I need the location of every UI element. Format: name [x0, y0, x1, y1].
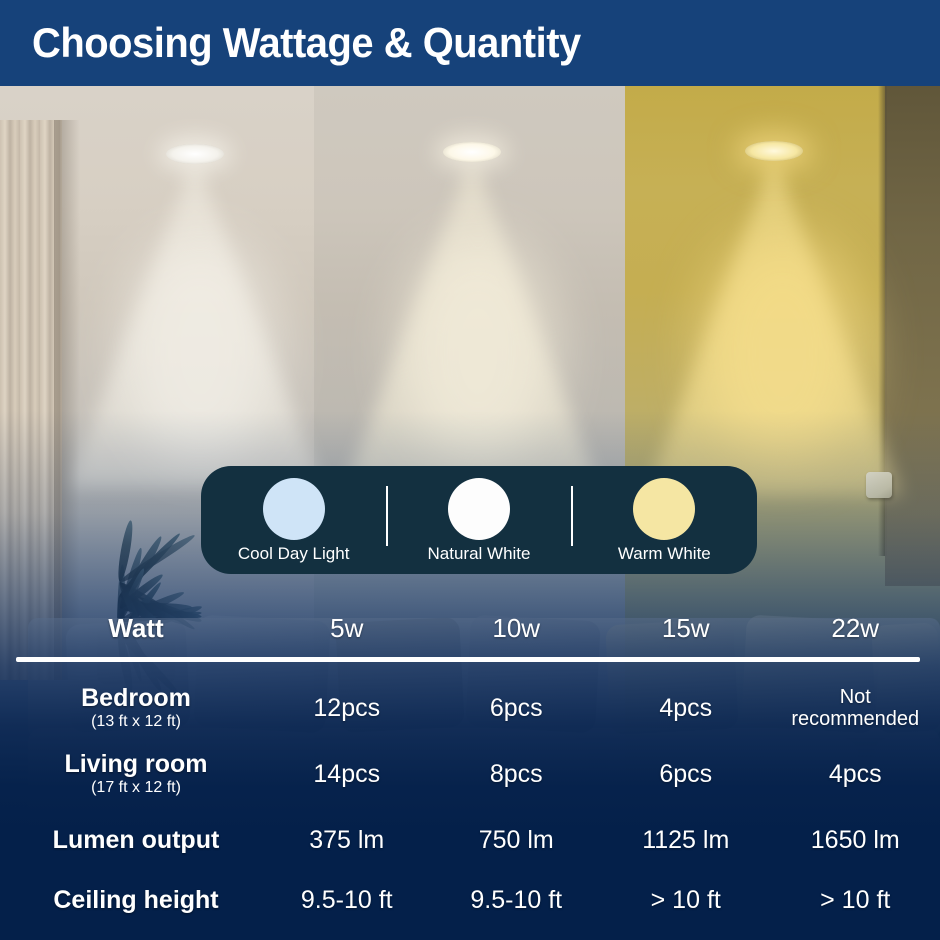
cell-ceiling-5w: 9.5-10 ft: [262, 886, 432, 915]
page-title: Choosing Wattage & Quantity: [32, 19, 581, 67]
legend-item-warm-white[interactable]: Warm White: [572, 466, 757, 574]
table-header-divider: [16, 657, 920, 662]
cell-living-5w: 14pcs: [262, 760, 432, 789]
legend-item-cool-day-light[interactable]: Cool Day Light: [201, 466, 386, 574]
table-header-value-1: 10w: [432, 614, 602, 644]
value-bedroom-5w: 12pcs: [262, 694, 432, 723]
cell-bedroom-22w: Not recommended: [771, 686, 940, 731]
header-bar: Choosing Wattage & Quantity: [0, 0, 940, 86]
value-lumen-10w: 750 lm: [432, 826, 602, 855]
value-lumen-15w: 1125 lm: [601, 826, 771, 855]
row-label-cell-lumen-output: Lumen output: [0, 827, 262, 854]
table-header-label: Watt: [10, 615, 262, 643]
table-header-value-3: 22w: [771, 614, 940, 644]
legend-item-natural-white[interactable]: Natural White: [386, 466, 571, 574]
table-header-cell-3: 22w: [771, 614, 940, 644]
row-sublabel-living-room: (17 ft x 12 ft): [10, 778, 262, 797]
table-header-row: Watt 5w 10w 15w 22w: [0, 600, 940, 658]
value-ceiling-22w: > 10 ft: [771, 886, 940, 915]
table-header-value-0: 5w: [262, 614, 432, 644]
value-bedroom-15w: 4pcs: [601, 694, 771, 723]
cell-living-22w: 4pcs: [771, 760, 940, 789]
value-bedroom-10w: 6pcs: [432, 694, 602, 723]
swatch-warm-white: [633, 478, 695, 540]
value-lumen-22w: 1650 lm: [771, 826, 940, 855]
row-label-ceiling-height: Ceiling height: [10, 887, 262, 914]
row-label-cell-bedroom: Bedroom (13 ft x 12 ft): [0, 685, 262, 732]
value-ceiling-5w: 9.5-10 ft: [262, 886, 432, 915]
table-row-living-room: Living room (17 ft x 12 ft) 14pcs 8pcs 6…: [0, 742, 940, 806]
table-row-ceiling-height: Ceiling height 9.5-10 ft 9.5-10 ft > 10 …: [0, 874, 940, 926]
row-sublabel-bedroom: (13 ft x 12 ft): [10, 712, 262, 731]
value-living-22w: 4pcs: [771, 760, 940, 789]
table-header-cell-2: 15w: [601, 614, 771, 644]
table-header-cell-1: 10w: [432, 614, 602, 644]
value-ceiling-15w: > 10 ft: [601, 886, 771, 915]
row-label-lumen-output: Lumen output: [10, 827, 262, 854]
swatch-cool-day-light: [263, 478, 325, 540]
table-row-bedroom: Bedroom (13 ft x 12 ft) 12pcs 6pcs 4pcs …: [0, 676, 940, 740]
cell-living-15w: 6pcs: [601, 760, 771, 789]
cell-bedroom-10w: 6pcs: [432, 694, 602, 723]
cell-lumen-10w: 750 lm: [432, 826, 602, 855]
legend-label-cool-day-light: Cool Day Light: [238, 544, 350, 564]
table-header-cell-0: 5w: [262, 614, 432, 644]
cell-bedroom-15w: 4pcs: [601, 694, 771, 723]
value-ceiling-10w: 9.5-10 ft: [432, 886, 602, 915]
row-label-cell-living-room: Living room (17 ft x 12 ft): [0, 751, 262, 798]
color-temperature-legend: Cool Day Light Natural White Warm White: [201, 466, 757, 574]
value-living-10w: 8pcs: [432, 760, 602, 789]
legend-label-natural-white: Natural White: [428, 544, 531, 564]
table-row-lumen-output: Lumen output 375 lm 750 lm 1125 lm 1650 …: [0, 814, 940, 866]
value-bedroom-22w: Not recommended: [771, 686, 940, 731]
swatch-natural-white: [448, 478, 510, 540]
table-header-value-2: 15w: [601, 614, 771, 644]
cell-bedroom-5w: 12pcs: [262, 694, 432, 723]
cell-lumen-15w: 1125 lm: [601, 826, 771, 855]
cell-ceiling-15w: > 10 ft: [601, 886, 771, 915]
infographic-page: Choosing Wattage & Quantity: [0, 0, 940, 940]
cell-lumen-5w: 375 lm: [262, 826, 432, 855]
cell-ceiling-22w: > 10 ft: [771, 886, 940, 915]
table-header-label-cell: Watt: [0, 615, 262, 643]
row-label-cell-ceiling-height: Ceiling height: [0, 887, 262, 914]
wattage-quantity-table: Watt 5w 10w 15w 22w Bedroom (13 ft x 12 …: [0, 600, 940, 926]
cell-ceiling-10w: 9.5-10 ft: [432, 886, 602, 915]
value-lumen-5w: 375 lm: [262, 826, 432, 855]
legend-label-warm-white: Warm White: [618, 544, 711, 564]
cell-lumen-22w: 1650 lm: [771, 826, 940, 855]
value-living-15w: 6pcs: [601, 760, 771, 789]
row-label-bedroom: Bedroom: [10, 685, 262, 712]
cell-living-10w: 8pcs: [432, 760, 602, 789]
value-living-5w: 14pcs: [262, 760, 432, 789]
row-label-living-room: Living room: [10, 751, 262, 778]
